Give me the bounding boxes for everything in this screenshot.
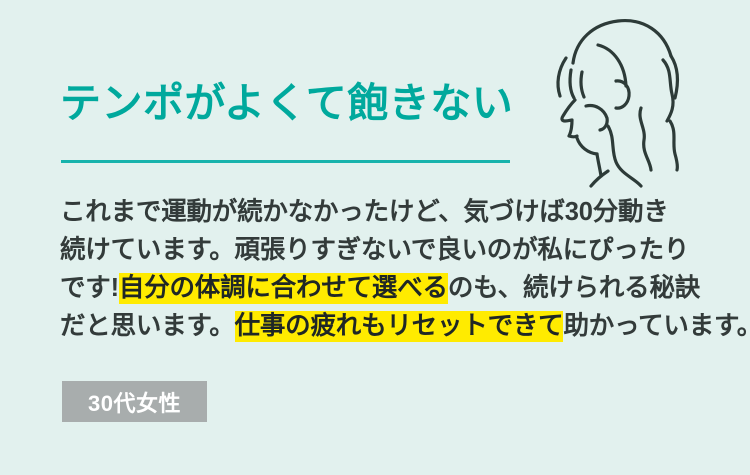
highlighted-phrase: 仕事の疲れもリセットできて <box>235 311 564 342</box>
title-divider <box>61 160 510 163</box>
testimonial-card: テンポがよくて飽きない これまで運動が続かなかったけど、気づけば30分動き 続け… <box>0 0 750 475</box>
testimonial-text: です! <box>60 274 119 302</box>
testimonial-body: これまで運動が続かなかったけど、気づけば30分動き 続けています。頑張りすぎない… <box>60 193 720 345</box>
testimonial-text: 助かっています。 <box>563 312 750 340</box>
testimonial-line-3: です!自分の体調に合わせて選べるのも、続けられる秘訣 <box>60 269 720 307</box>
testimonial-line-4: だと思います。仕事の疲れもリセットできて助かっています。 <box>60 307 720 345</box>
page-title: テンポがよくて飽きない <box>60 80 513 127</box>
woman-profile-line-art-icon <box>538 8 738 193</box>
testimonial-line-2: 続けています。頑張りすぎないで良いのが私にぴったり <box>60 231 720 269</box>
status-badge: 30代女性 <box>62 381 207 422</box>
highlighted-phrase: 自分の体調に合わせて選べる <box>119 273 448 304</box>
testimonial-line-1: これまで運動が続かなかったけど、気づけば30分動き <box>60 193 720 231</box>
testimonial-text: だと思います。 <box>60 312 235 340</box>
testimonial-text: これまで運動が続かなかったけど、気づけば30分動き <box>60 198 669 226</box>
testimonial-text: 続けています。頑張りすぎないで良いのが私にぴったり <box>60 236 689 264</box>
testimonial-text: のも、続けられる秘訣 <box>448 274 700 302</box>
woman-profile-illustration <box>538 8 738 193</box>
